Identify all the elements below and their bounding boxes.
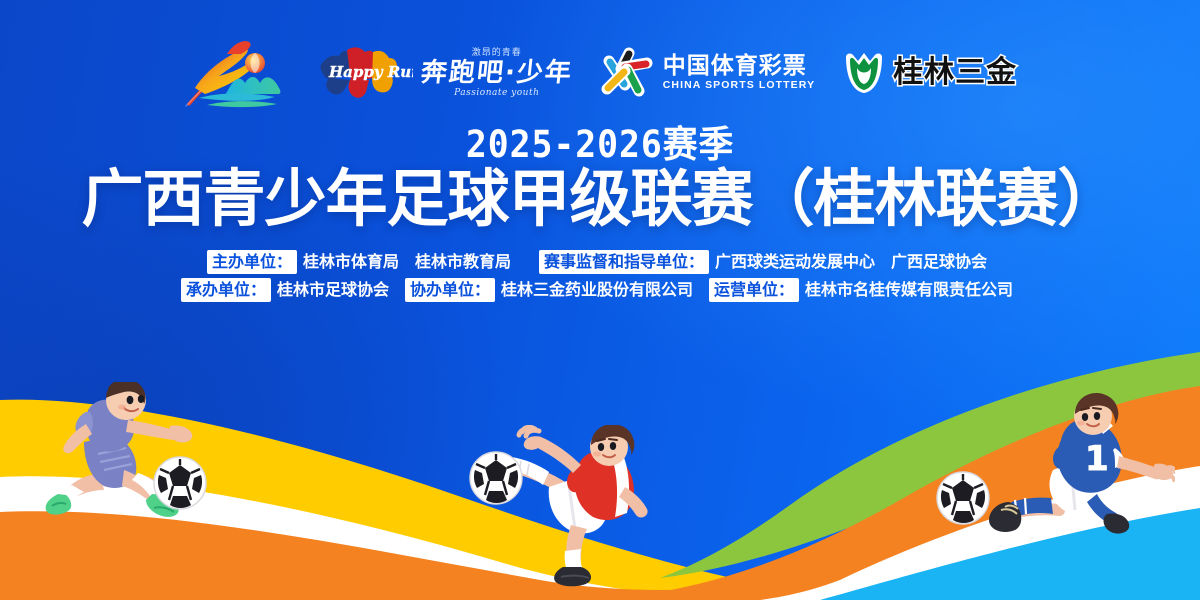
credits-row-1: 主办单位： 桂林市体育局 桂林市教育局 赛事监督和指导单位： 广西球类运动发展中… (0, 248, 1200, 276)
page-title: 广西青少年足球甲级联赛（桂林联赛） (0, 166, 1200, 231)
sponsor-logo-strip: Happy Run 激昂的青春 奔跑吧·少年 Passionate youth (0, 28, 1200, 118)
credit-label-supervisor: 赛事监督和指导单位： (539, 250, 709, 274)
credits-row-2: 承办单位： 桂林市足球协会 协办单位： 桂林三金药业股份有限公司 运营单位： 桂… (0, 276, 1200, 304)
soccer-ball-left (152, 455, 208, 511)
csl-en: CHINA SPORTS LOTTERY (663, 80, 815, 92)
happy-run-cn: 奔跑吧·少年 (419, 60, 574, 86)
china-sports-lottery-text: 中国体育彩票 CHINA SPORTS LOTTERY (663, 54, 815, 92)
csl-cn: 中国体育彩票 (663, 54, 815, 78)
event-banner: Happy Run 激昂的青春 奔跑吧·少年 Passionate youth (0, 0, 1200, 600)
happy-run-text: 激昂的青春 奔跑吧·少年 Passionate youth (421, 48, 573, 98)
credit-label-coorganizer: 协办单位： (405, 278, 495, 302)
happy-run-puzzle-icon: Happy Run (317, 40, 413, 106)
credit-value-supervisor: 广西球类运动发展中心 广西足球协会 (709, 252, 993, 272)
guilin-sanjin-logo: 桂林三金 (841, 34, 1017, 112)
organizer-credits: 主办单位： 桂林市体育局 桂林市教育局 赛事监督和指导单位： 广西球类运动发展中… (0, 248, 1200, 304)
guilin-tourism-icon (183, 36, 291, 110)
happy-run-logo: Happy Run 激昂的青春 奔跑吧·少年 Passionate youth (317, 34, 573, 112)
jersey-number: 1 (1085, 439, 1109, 479)
player-right: 1 (975, 390, 1175, 570)
credit-label-operator: 运营单位： (709, 278, 799, 302)
credit-value-organizer: 桂林市足球协会 (271, 280, 395, 300)
credit-label-host: 主办单位： (207, 250, 297, 274)
player-left (28, 382, 248, 547)
happy-run-sub-en: Passionate youth (421, 89, 573, 98)
sanjin-icon (841, 48, 887, 98)
sports-lottery-icon (599, 45, 655, 101)
china-sports-lottery-logo: 中国体育彩票 CHINA SPORTS LOTTERY (599, 34, 815, 112)
guilin-tourism-logo (183, 34, 291, 112)
sanjin-cn: 桂林三金 (893, 58, 1017, 88)
soccer-ball-right (935, 470, 991, 526)
credit-value-operator: 桂林市名桂传媒有限责任公司 (799, 280, 1019, 300)
happy-run-top-cn: 激昂的青春 (421, 48, 573, 57)
season-title: 2025-2026赛季 (36, 126, 1164, 163)
soccer-ball-center (468, 450, 524, 506)
credit-value-coorganizer: 桂林三金药业股份有限公司 (495, 280, 699, 300)
credit-label-organizer: 承办单位： (181, 278, 271, 302)
credit-value-host: 桂林市体育局 桂林市教育局 (297, 252, 517, 272)
svg-text:Happy Run: Happy Run (328, 63, 413, 81)
